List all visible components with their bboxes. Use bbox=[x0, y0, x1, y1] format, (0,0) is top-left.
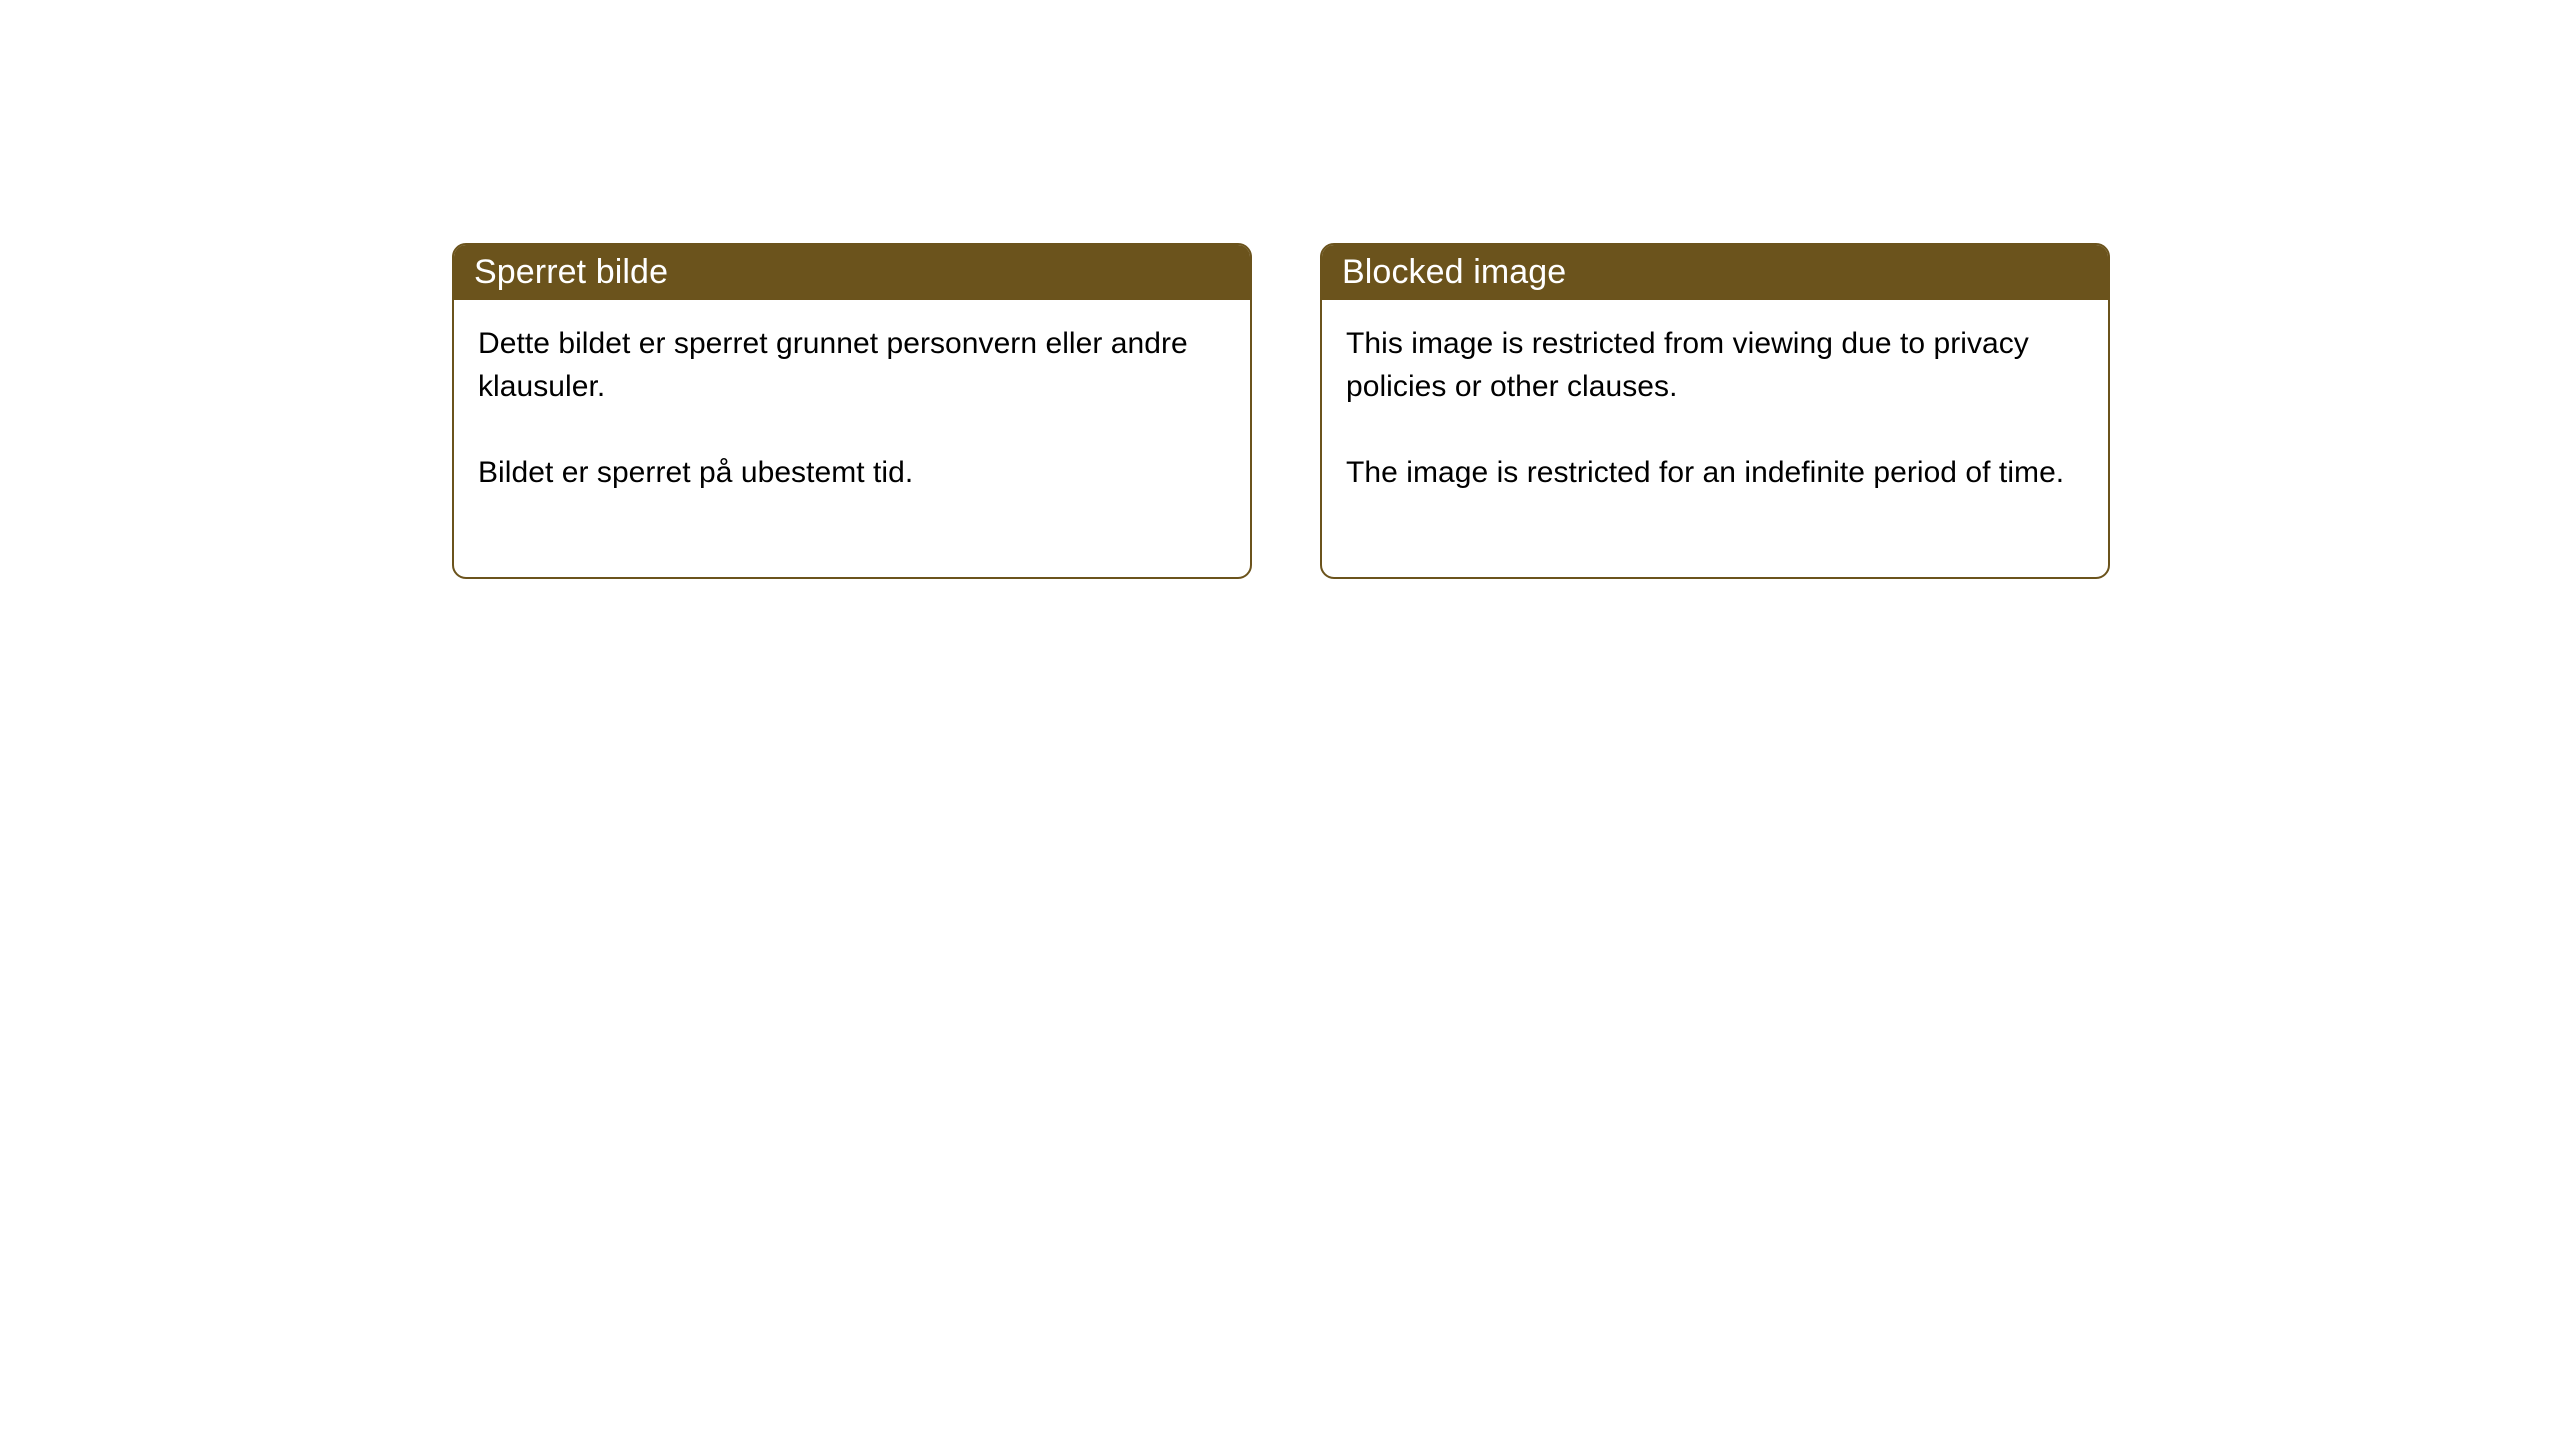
panel-title-english: Blocked image bbox=[1342, 255, 1566, 289]
panel-header-norwegian: Sperret bilde bbox=[452, 243, 1252, 300]
panel-body-norwegian: Dette bildet er sperret grunnet personve… bbox=[454, 300, 1250, 494]
paragraph-spacer bbox=[478, 408, 1224, 451]
panel-title-norwegian: Sperret bilde bbox=[474, 255, 668, 289]
paragraph-spacer bbox=[1346, 408, 2082, 451]
panel-paragraph-norwegian-2: Bildet er sperret på ubestemt tid. bbox=[478, 451, 1224, 494]
panel-paragraph-norwegian-1: Dette bildet er sperret grunnet personve… bbox=[478, 322, 1224, 408]
panel-paragraph-english-1: This image is restricted from viewing du… bbox=[1346, 322, 2082, 408]
page-canvas: Sperret bilde Dette bildet er sperret gr… bbox=[0, 0, 2560, 1440]
blocked-image-panel-english: Blocked image This image is restricted f… bbox=[1320, 243, 2110, 579]
panel-header-english: Blocked image bbox=[1320, 243, 2110, 300]
blocked-image-panel-norwegian: Sperret bilde Dette bildet er sperret gr… bbox=[452, 243, 1252, 579]
panel-paragraph-english-2: The image is restricted for an indefinit… bbox=[1346, 451, 2082, 494]
panel-body-english: This image is restricted from viewing du… bbox=[1322, 300, 2108, 494]
